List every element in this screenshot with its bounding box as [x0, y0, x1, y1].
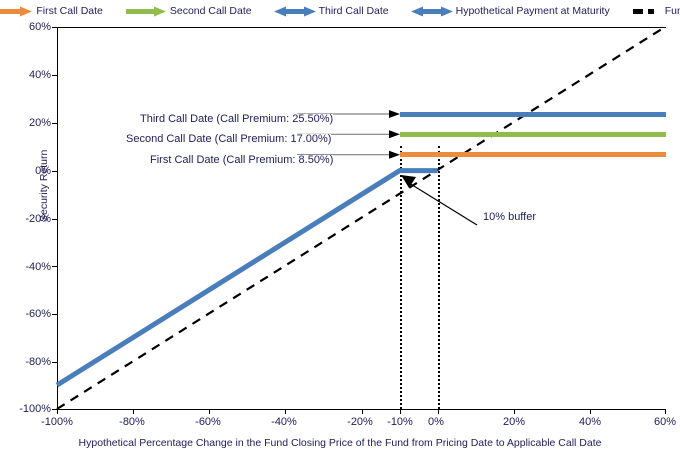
y-axis-title: Security Return [38, 150, 50, 222]
y-axis-label-40: 40% [7, 70, 51, 81]
x-axis-label--60: -60% [183, 417, 233, 428]
callout-leaders [57, 27, 666, 410]
callout-buffer: 10% buffer [483, 212, 536, 223]
chart-legend: First Call Date Second Call Date Third C… [0, 0, 680, 22]
payoff-diagram-chart: First Call Date Second Call Date Third C… [0, 0, 680, 464]
x-axis-title: Hypothetical Percentage Change in the Fu… [0, 437, 680, 449]
legend-item-second-call-date[interactable]: Second Call Date [125, 6, 252, 17]
x-axis-label--100: -100% [29, 417, 85, 428]
x-axis-label-20: 20% [489, 417, 539, 428]
legend-label: Fund [665, 6, 680, 17]
callout-first-call-date: First Call Date (Call Premium: 8.50%) [150, 155, 333, 166]
dashed-line-icon [632, 6, 662, 17]
y-axis-label--100: -100% [2, 404, 51, 415]
arrow-line-icon [125, 6, 167, 17]
y-axis-label--60: -60% [7, 309, 51, 320]
x-axis-label-60: 60% [640, 417, 680, 428]
callout-second-call-date: Second Call Date (Call Premium: 17.00%) [126, 134, 331, 145]
legend-label: Third Call Date [319, 6, 389, 17]
legend-item-first-call-date[interactable]: First Call Date [0, 6, 103, 17]
y-axis-label-20: 20% [7, 118, 51, 129]
legend-label: Hypothetical Payment at Maturity [456, 6, 610, 17]
plot-area [57, 27, 666, 410]
x-axis-label-0: 0% [414, 417, 458, 428]
y-axis-label-60: 60% [7, 22, 51, 33]
x-axis-label--40: -40% [259, 417, 309, 428]
legend-item-hypothetical-payment-at-maturity[interactable]: Hypothetical Payment at Maturity [411, 6, 610, 17]
callout-third-call-date: Third Call Date (Call Premium: 25.50%) [140, 114, 333, 125]
legend-label: Second Call Date [170, 6, 252, 17]
x-axis-label--80: -80% [107, 417, 157, 428]
double-arrow-line-icon [411, 6, 453, 17]
x-axis-label-40: 40% [565, 417, 615, 428]
legend-item-fund[interactable]: Fund [632, 6, 680, 17]
double-arrow-line-icon [274, 6, 316, 17]
legend-label: First Call Date [36, 6, 103, 17]
arrow-line-icon [0, 6, 33, 17]
legend-item-third-call-date[interactable]: Third Call Date [274, 6, 389, 17]
y-axis-label--40: -40% [7, 262, 51, 273]
y-axis-label--80: -80% [7, 357, 51, 368]
